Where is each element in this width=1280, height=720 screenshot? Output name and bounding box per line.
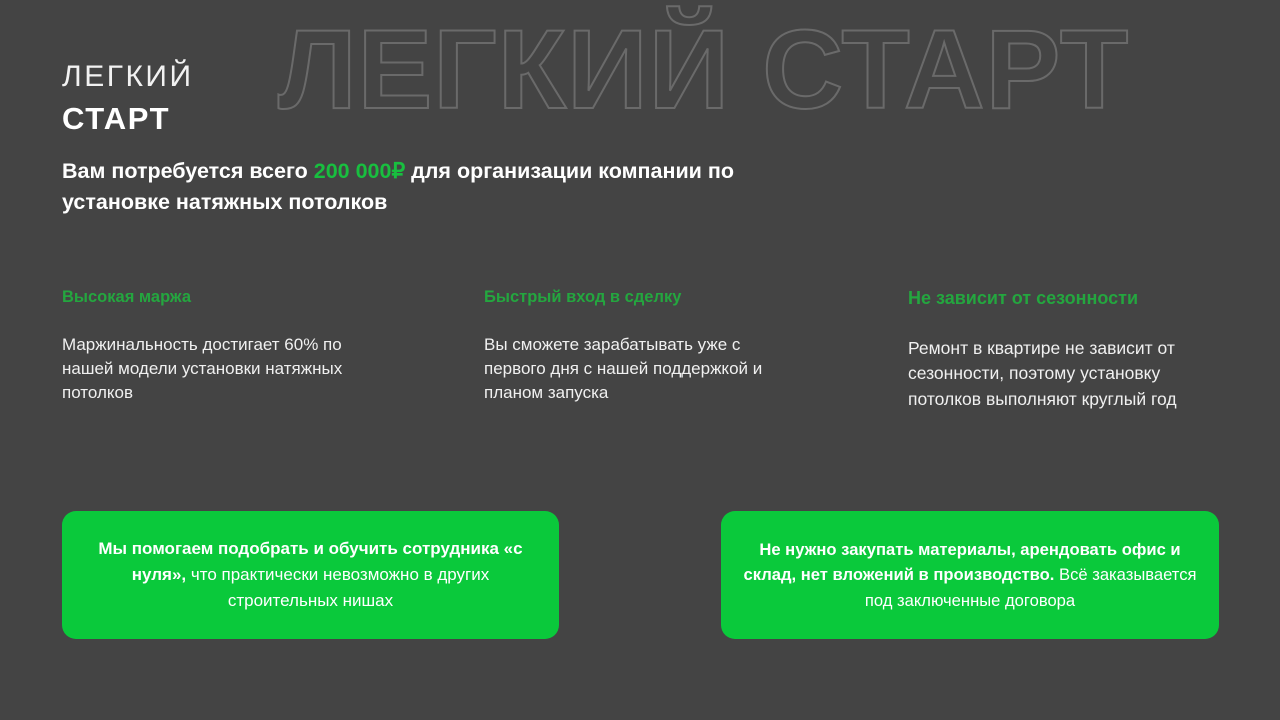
subtitle-before-price: Вам потребуется всего — [62, 159, 314, 183]
feature-body: Вы сможете зарабатывать уже с первого дн… — [484, 333, 784, 406]
feature-title: Быстрый вход в сделку — [484, 288, 784, 308]
feature-body: Ремонт в квартире не зависит от сезоннос… — [908, 336, 1218, 414]
feature-column-seasonality: Не зависит от сезонности Ремонт в кварти… — [908, 288, 1218, 413]
slide-root: ЛЕГКИЙ СТАРТ ЛЕГКИЙ СТАРТ Вам потребуетс… — [0, 0, 1280, 720]
callout-card-staff: Мы помогаем подобрать и обучить сотрудни… — [62, 511, 559, 639]
feature-title: Высокая маржа — [62, 288, 362, 308]
price-value: 200 000₽ — [314, 159, 405, 183]
page-title: ЛЕГКИЙ СТАРТ — [62, 60, 194, 138]
callout-regular-text: что практически невозможно в других стро… — [186, 565, 489, 610]
subtitle: Вам потребуется всего 200 000₽ для орган… — [62, 156, 762, 217]
watermark-headline: ЛЕГКИЙ СТАРТ — [278, 14, 1129, 126]
callout-text: Не нужно закупать материалы, арендовать … — [721, 537, 1219, 613]
feature-column-fast-entry: Быстрый вход в сделку Вы сможете зарабат… — [484, 288, 784, 406]
feature-title: Не зависит от сезонности — [908, 288, 1218, 310]
callout-text: Мы помогаем подобрать и обучить сотрудни… — [62, 536, 559, 613]
feature-body: Маржинальность достигает 60% по нашей мо… — [62, 333, 362, 406]
title-line-legkiy: ЛЕГКИЙ — [62, 60, 194, 95]
title-line-start: СТАРТ — [62, 100, 194, 139]
callout-card-no-purchase: Не нужно закупать материалы, арендовать … — [721, 511, 1219, 639]
feature-column-margin: Высокая маржа Маржинальность достигает 6… — [62, 288, 362, 406]
